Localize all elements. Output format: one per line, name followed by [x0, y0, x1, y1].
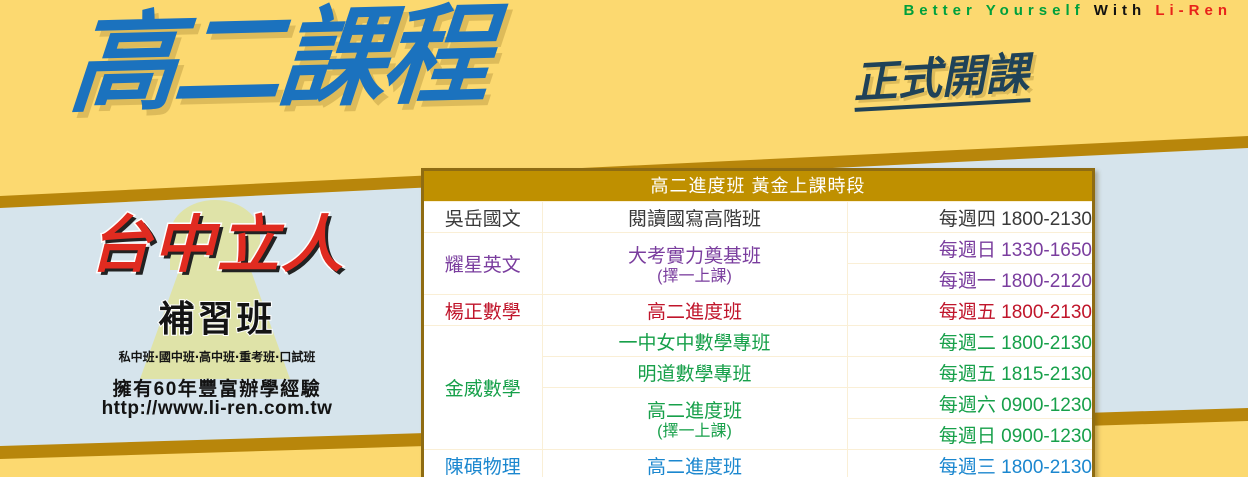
teacher-cell: 金威數學 [424, 326, 542, 450]
time-cell: 每週一 1800-2120 [847, 264, 1092, 295]
time-cell: 每週五 1815-2130 [847, 357, 1092, 388]
tagline-part-3: Li-Ren [1155, 2, 1232, 19]
time-cell: 每週六 0900-1230 [847, 388, 1092, 419]
logo-name: 台中立人 [22, 214, 412, 276]
time-cell: 每週日 0900-1230 [847, 419, 1092, 450]
course-note: (擇一上課) [543, 423, 847, 441]
course-cell: 一中女中數學專班 [542, 326, 847, 357]
time-cell: 每週二 1800-2130 [847, 326, 1092, 357]
logo-url: http://www.li-ren.com.tw [22, 398, 412, 420]
time-cell: 每週四 1800-2130 [847, 202, 1092, 233]
logo-experience: 擁有60年豐富辦學經驗 [22, 374, 412, 401]
course-cell: 高二進度班 [542, 295, 847, 326]
teacher-cell: 吳岳國文 [424, 202, 542, 233]
teacher-cell: 耀星英文 [424, 233, 542, 295]
table-row[interactable]: 楊正數學 高二進度班 每週五 1800-2130 [424, 295, 1092, 326]
table-row[interactable]: 吳岳國文 閱讀國寫高階班 每週四 1800-2130 [424, 202, 1092, 233]
page-title: 高二課程 [65, 2, 491, 120]
promo-banner: Better Yourself With Li-Ren 高二課程 正式開課 台中… [0, 0, 1248, 477]
teacher-cell: 陳碩物理 [424, 450, 542, 477]
course-cell: 大考實力奠基班 (擇一上課) [542, 233, 847, 295]
course-name: 高二進度班 [647, 401, 742, 422]
schedule-table-card: 高二進度班 黃金上課時段 吳岳國文 閱讀國寫高階班 每週四 1800-2130 … [421, 168, 1095, 477]
page-subtitle: 正式開課 [852, 52, 1031, 112]
time-cell: 每週日 1330-1650 [847, 233, 1092, 264]
logo-type: 補習班 [22, 302, 412, 338]
teacher-cell: 楊正數學 [424, 295, 542, 326]
tagline: Better Yourself With Li-Ren [903, 2, 1232, 19]
table-row[interactable]: 耀星英文 大考實力奠基班 (擇一上課) 每週日 1330-1650 [424, 233, 1092, 264]
table-header-row: 高二進度班 黃金上課時段 [424, 171, 1092, 202]
schedule-header: 高二進度班 黃金上課時段 [424, 171, 1092, 202]
logo: 台中立人 補習班 私中班‧國中班‧高中班‧重考班‧口試班 擁有60年豐富辦學經驗… [22, 196, 412, 436]
course-cell: 閱讀國寫高階班 [542, 202, 847, 233]
time-cell: 每週三 1800-2130 [847, 450, 1092, 477]
logo-class-list: 私中班‧國中班‧高中班‧重考班‧口試班 [22, 348, 412, 365]
tagline-part-1: Better Yourself [903, 2, 1084, 19]
course-cell: 高二進度班 (擇一上課) [542, 388, 847, 450]
course-cell: 明道數學專班 [542, 357, 847, 388]
tagline-part-2: With [1094, 2, 1146, 19]
schedule-table: 高二進度班 黃金上課時段 吳岳國文 閱讀國寫高階班 每週四 1800-2130 … [424, 171, 1092, 477]
course-name: 大考實力奠基班 [628, 246, 761, 267]
course-note: (擇一上課) [543, 268, 847, 286]
table-row[interactable]: 金威數學 一中女中數學專班 每週二 1800-2130 [424, 326, 1092, 357]
time-cell: 每週五 1800-2130 [847, 295, 1092, 326]
table-row[interactable]: 陳碩物理 高二進度班 每週三 1800-2130 [424, 450, 1092, 477]
course-cell: 高二進度班 [542, 450, 847, 477]
